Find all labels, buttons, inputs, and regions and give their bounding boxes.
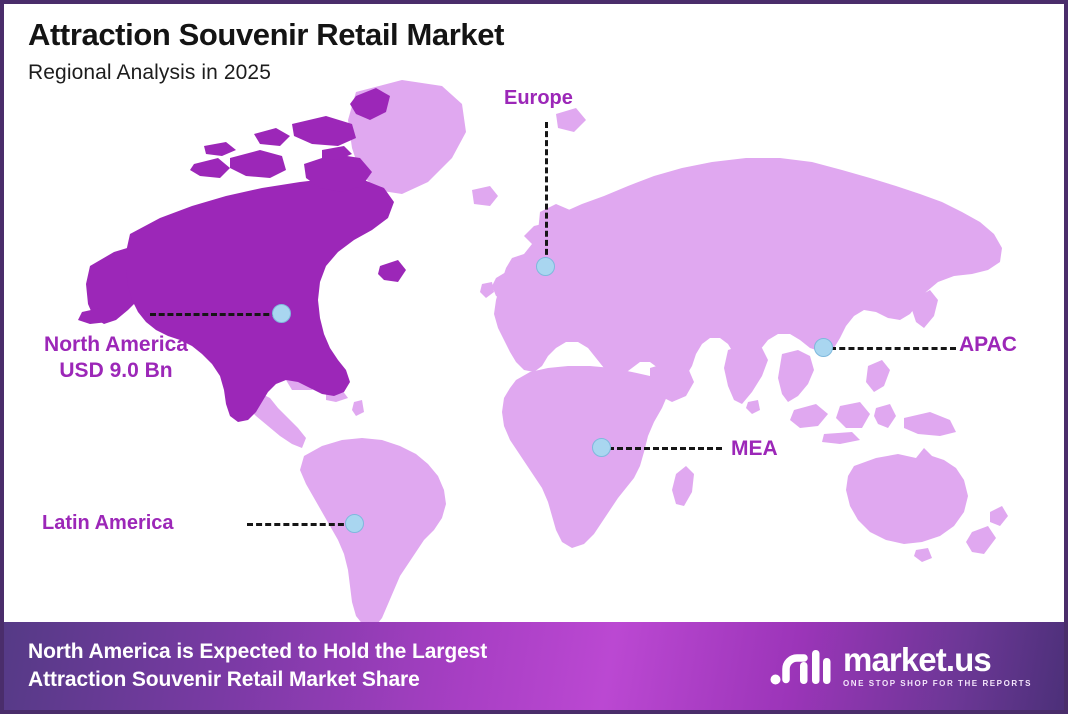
region-callout-europe: Europe (504, 86, 573, 110)
map-shape-iceland (472, 186, 498, 206)
map-shape-ireland (480, 282, 494, 298)
footer-banner: North America is Expected to Hold the La… (4, 622, 1064, 710)
leader-line-apac (830, 347, 956, 350)
banner-headline: North America is Expected to Hold the La… (28, 638, 487, 693)
region-label-north-america: North America (22, 332, 210, 358)
map-shape-indonesia-java (822, 432, 860, 444)
map-shape-ellesmere (292, 116, 356, 146)
map-shape-south-america (300, 438, 446, 628)
region-callout-mea: MEA (731, 436, 778, 462)
map-shape-indonesia-sulawesi (874, 404, 896, 428)
map-shape-new-zealand-north (990, 506, 1008, 526)
region-callout-latin-america: Latin America (42, 511, 174, 535)
leader-line-north-america (150, 313, 278, 316)
map-shape-canada-usa-mexico (126, 178, 394, 422)
map-shape-philippines (866, 360, 890, 392)
map-shape-australia (846, 448, 968, 544)
region-label-europe: Europe (504, 86, 573, 110)
map-marker-apac[interactable] (814, 338, 833, 357)
market-us-bars-arc-icon-svg (770, 644, 832, 688)
map-shape-new-zealand-south (966, 526, 996, 554)
brand-logo[interactable]: market.us ONE STOP SHOP FOR THE REPORTS (770, 644, 1038, 689)
brand-logo-text: market.us ONE STOP SHOP FOR THE REPORTS (843, 644, 1032, 689)
map-marker-europe[interactable] (536, 257, 555, 276)
region-label-apac: APAC (959, 332, 1017, 358)
map-marker-latin-america[interactable] (345, 514, 364, 533)
banner-headline-line1: North America is Expected to Hold the La… (28, 638, 487, 666)
page-subtitle: Regional Analysis in 2025 (28, 61, 504, 85)
map-shape-newfoundland (378, 260, 406, 282)
map-shape-india (724, 344, 768, 404)
map-shape-tasmania (914, 548, 932, 562)
map-shape-indonesia-borneo (836, 402, 870, 428)
brand-tagline: ONE STOP SHOP FOR THE REPORTS (843, 679, 1032, 688)
map-shape-africa (502, 366, 668, 548)
map-shape-sri-lanka (746, 400, 760, 414)
map-marker-north-america[interactable] (272, 304, 291, 323)
map-marker-mea[interactable] (592, 438, 611, 457)
banner-headline-line2: Attraction Souvenir Retail Market Share (28, 666, 487, 694)
market-us-bars-arc-icon (770, 644, 832, 688)
page-title: Attraction Souvenir Retail Market (28, 18, 504, 53)
brand-name: market.us (843, 644, 991, 676)
header: Attraction Souvenir Retail Market Region… (28, 18, 504, 85)
region-label-mea: MEA (731, 436, 778, 462)
leader-line-europe (545, 122, 548, 264)
map-shape-banks-island (190, 158, 230, 178)
map-shape-madagascar (672, 466, 694, 506)
leader-line-latin-america (247, 523, 353, 526)
map-shape-indonesia-sumatra (790, 404, 828, 428)
map-shape-southeast-asia (778, 350, 814, 402)
map-shape-victoria-island (230, 150, 286, 178)
region-callout-north-america: North America USD 9.0 Bn (22, 332, 210, 383)
infographic-canvas: Attraction Souvenir Retail Market Region… (0, 0, 1068, 714)
map-shape-new-guinea (904, 412, 956, 436)
region-callout-apac: APAC (959, 332, 1017, 358)
region-value-north-america: USD 9.0 Bn (22, 358, 210, 384)
map-shape-lesser-antilles (352, 400, 364, 416)
leader-line-mea (608, 447, 722, 450)
region-label-latin-america: Latin America (42, 511, 174, 535)
map-shape-svalbard (556, 108, 586, 132)
